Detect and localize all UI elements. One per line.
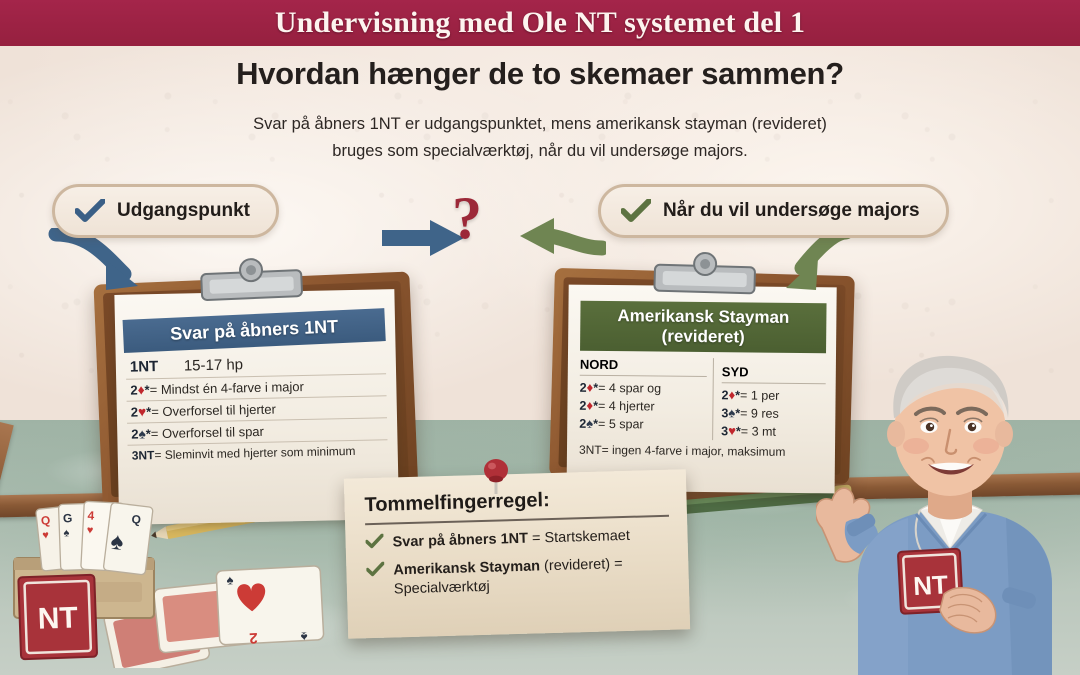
row-desc: 4 hjerter [609, 399, 655, 413]
nord-row: 2♦*= 4 spar og [580, 379, 707, 398]
pushpin-icon [481, 456, 511, 496]
column-header-syd: SYD [722, 364, 826, 384]
nord-row: 2♠*= 5 spar [579, 415, 706, 434]
note-card-tommelfingerregel[interactable]: Tommelfingerregel: Svar på åbners 1NT = … [344, 469, 690, 638]
left-sheet-rows: 1NT 15-17 hp 2♦*= Mindst én 4-farve i ma… [116, 344, 398, 466]
row-sep: = [740, 406, 747, 420]
row-desc: Mindst én 4-farve i major [161, 379, 304, 397]
check-icon [366, 562, 384, 577]
stayman-footer: 3NT= ingen 4-farve i major, maksimum [567, 439, 835, 460]
note-item-text: Svar på åbners 1NT = Startskemaet [392, 527, 630, 553]
row-desc: Sleminvit med hjerter som minimum [165, 444, 356, 462]
row-desc: 4 spar og [609, 381, 661, 396]
note-item: Svar på åbners 1NT = Startskemaet [365, 526, 669, 553]
table-row: 3NT= Sleminvit med hjerter som minimum [128, 440, 388, 465]
note-item: Amerikansk Stayman (revideret) = Special… [366, 554, 671, 600]
svg-text:G: G [63, 511, 73, 525]
card-box-and-cards: ♠ ♠ 2 Q ♥ G ♠ 4 [6, 498, 336, 668]
column-header-nord: NORD [580, 357, 707, 377]
svg-text:♠: ♠ [63, 527, 69, 539]
column-nord: NORD 2♦*= 4 spar og 2♦*= 4 hjerter 2♠*= … [579, 357, 714, 440]
column-syd: SYD 2♦*= 1 per 3♠*= 9 res 3♥*= 3 mt [713, 358, 826, 441]
svg-text:Q: Q [40, 513, 51, 528]
callout-udgangspunkt[interactable]: Udgangspunkt [52, 184, 279, 238]
row-desc: 9 res [751, 407, 779, 421]
note-item-text: Amerikansk Stayman (revideret) = Special… [393, 555, 623, 599]
check-icon [621, 199, 651, 223]
note-item-continuation: Specialværktøj [394, 574, 624, 599]
lead-paragraph: Svar på åbners 1NT er udgangspunktet, me… [150, 112, 930, 164]
nord-row: 2♦*= 4 hjerter [579, 397, 706, 416]
row-desc: Overforsel til hjerter [162, 402, 276, 419]
row-bid: 3NT [132, 448, 155, 462]
arrow-left-pointing-icon [502, 212, 606, 262]
check-icon [365, 534, 383, 549]
note-item-strong: Amerikansk Stayman [393, 558, 540, 578]
svg-text:NT: NT [37, 601, 78, 635]
syd-row: 3♥*= 3 mt [721, 422, 825, 441]
nt-bid-card: NT [18, 575, 97, 660]
page-headline: Hvordan hænger de to skemaer sammen? [0, 56, 1080, 92]
deck-cards: Q ♥ G ♠ 4 ♥ Q ♠ [36, 501, 153, 575]
face [887, 356, 1013, 496]
right-header-line-1: Amerikansk Stayman [586, 306, 820, 328]
syd-row: 2♦*= 1 per [721, 386, 825, 405]
row-sep: = [151, 426, 159, 441]
infographic-canvas: Undervisning med Ole NT systemet del 1 H… [0, 0, 1080, 675]
syd-row: 3♠*= 9 res [721, 404, 825, 423]
svg-text:4: 4 [87, 508, 95, 522]
row-sep: = [598, 381, 605, 395]
row-desc: 1 per [751, 389, 780, 403]
svg-text:Q: Q [131, 512, 142, 527]
svg-text:♠: ♠ [226, 572, 234, 587]
note-item-rest: = Startskemaet [528, 528, 630, 547]
right-header-line-2: (revideret) [586, 326, 820, 348]
clipboard-svar-paa-aabners-1nt[interactable]: Svar på åbners 1NT 1NT 15-17 hp 2♦*= Min… [93, 271, 418, 506]
note-card-title: Tommelfingerregel: [364, 486, 669, 525]
svg-text:♠: ♠ [300, 629, 308, 644]
row-sep: = [598, 417, 605, 431]
row-sep: = [740, 388, 747, 402]
title-banner: Undervisning med Ole NT systemet del 1 [0, 0, 1080, 46]
right-sheet-header: Amerikansk Stayman (revideret) [580, 301, 827, 354]
svg-text:♥: ♥ [86, 524, 93, 536]
question-mark: ? [452, 188, 482, 248]
svg-text:♥: ♥ [42, 529, 50, 542]
row-sep: = [154, 448, 161, 462]
note-item-strong: Svar på åbners 1NT [392, 531, 528, 551]
row-sep: = [741, 424, 748, 438]
row-sep: = [149, 382, 157, 397]
illustration-presenter: NT [816, 322, 1080, 675]
banner-title: Undervisning med Ole NT systemet del 1 [275, 6, 805, 40]
callout-undersoege-majors[interactable]: Når du vil undersøge majors [598, 184, 949, 238]
check-icon [75, 199, 105, 223]
row-desc: 5 spar [609, 417, 644, 431]
clipboard-clip-icon [648, 250, 761, 297]
heart-suit-icon: ♥ [728, 423, 736, 438]
note-item-rest: (revideret) = [540, 556, 623, 574]
stayman-columns: NORD 2♦*= 4 spar og 2♦*= 4 hjerter 2♠*= … [567, 351, 836, 442]
row-sep: = [598, 399, 605, 413]
lead-line-2: bruges som specialværktøj, når du vil un… [150, 139, 930, 164]
callout-left-label: Udgangspunkt [117, 200, 250, 222]
svg-text:2: 2 [249, 629, 258, 646]
row-bid: 1NT [130, 358, 159, 376]
clipboard-sheet: Amerikansk Stayman (revideret) NORD 2♦*=… [567, 285, 837, 494]
row-desc: 3 mt [752, 425, 776, 439]
row-sep: = [151, 404, 159, 419]
clipboard-amerikansk-stayman[interactable]: Amerikansk Stayman (revideret) NORD 2♦*=… [549, 268, 855, 484]
row-desc: Overforsel til spar [162, 424, 264, 441]
lead-line-1: Svar på åbners 1NT er udgangspunktet, me… [150, 112, 930, 137]
row-desc: 15-17 hp [184, 356, 244, 374]
callout-right-label: Når du vil undersøge majors [663, 200, 920, 222]
